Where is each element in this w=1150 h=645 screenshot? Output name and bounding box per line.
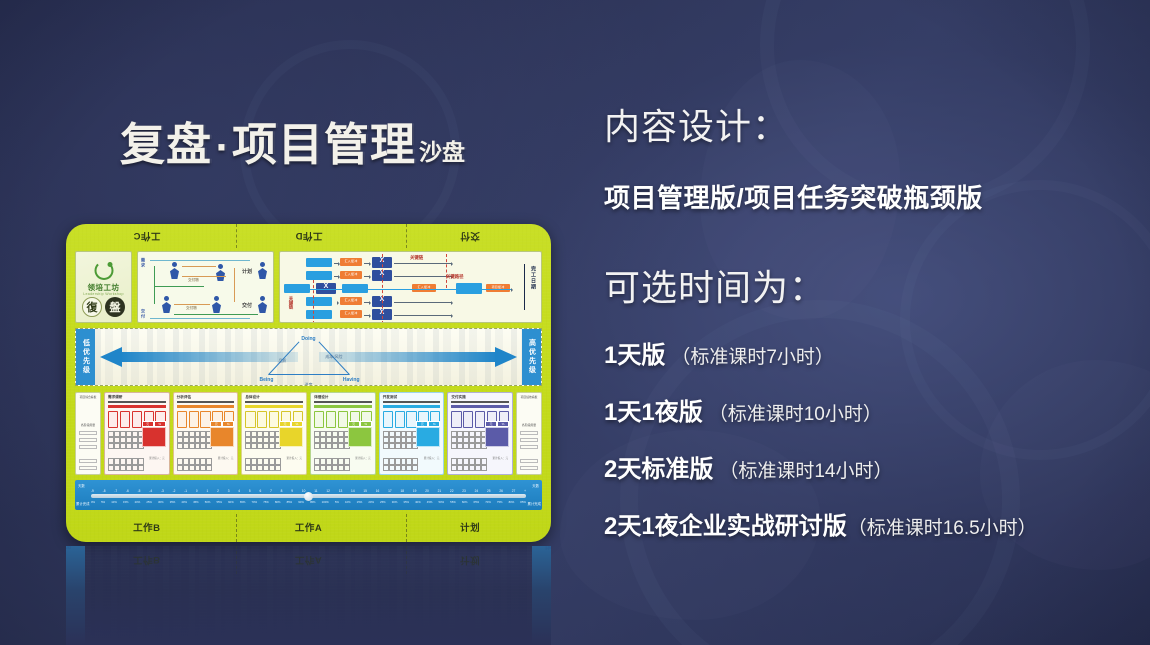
ruler-percent: 40%	[415, 500, 421, 507]
ruler-percent: 90%	[298, 500, 304, 507]
ruler-percent: 30%	[392, 500, 398, 507]
priority-high-tab: 高优先级	[532, 546, 551, 645]
ruler-percent: 65%	[240, 500, 246, 507]
board-top-label: 交付	[389, 226, 551, 248]
time-option-name: 2天1夜	[604, 513, 679, 540]
flow-line	[154, 286, 204, 287]
person-figure	[212, 296, 221, 313]
being-doing-having-triangle: Doing Being Having 品质 成本/风险 进度	[269, 336, 349, 381]
board-bottom-labels: 工作B 工作A 计划	[66, 516, 551, 538]
ruler-tick: -6	[126, 489, 129, 493]
triangle-node-having: Having	[343, 377, 360, 383]
ruler-tick: 26	[499, 489, 503, 493]
board-bottom-labels: 工作B 工作A 计划	[66, 550, 551, 572]
phase-card-title: 开发测试	[383, 395, 397, 400]
ruler-percent: 65%	[474, 500, 480, 507]
time-option-detail: （标准课时16.5小时）	[848, 518, 1037, 539]
ruler-tick: 7	[270, 489, 272, 493]
ruler-percent: 85%	[287, 500, 293, 507]
ruler-tick: 20	[425, 489, 429, 493]
network-arrow	[334, 276, 339, 277]
time-option-row: 1天版（标准课时7小时）	[604, 335, 1144, 370]
ruler-tick: -8	[103, 489, 106, 493]
title-part2: 项目管理	[232, 118, 416, 171]
ruler-percent-labels: 0%5%10%15%20%25%30%35%40%45%50%55%60%65%…	[91, 500, 526, 507]
feeding-buffer: 汇入缓冲	[340, 297, 362, 305]
ruler-percent: 0%	[91, 500, 95, 507]
buffer-label: 汇入缓冲	[340, 258, 362, 263]
ruler-tick: 1	[207, 489, 209, 493]
ruler-percent: 10%	[111, 500, 117, 507]
ruler-tick: 5	[249, 489, 251, 493]
time-options-heading: 可选时间为：	[604, 259, 1144, 311]
brand-seals: 復 盤	[76, 297, 131, 317]
triangle-edge-quality: 品质	[279, 358, 287, 364]
priority-low-tab: 低优先级	[76, 329, 95, 385]
ruler-percent: 20%	[368, 500, 374, 507]
ruler-left-top-label: 天数	[78, 483, 85, 488]
time-option-detail: （标准课时7小时）	[671, 347, 834, 368]
ruler-tick: 8	[281, 489, 283, 493]
page-title: 复盘·项目管理沙盘	[120, 108, 465, 173]
board-texture	[66, 546, 551, 645]
priority-high-tab: 高优先级	[522, 329, 541, 385]
ruler-percent: 60%	[462, 500, 468, 507]
board-divider	[406, 514, 407, 542]
ruler-tick: 15	[363, 489, 367, 493]
time-option-name: 2天标准版	[604, 456, 713, 483]
network-critical-path-arrow	[284, 289, 512, 290]
card-note: 累计投入：元	[286, 456, 302, 460]
triangle-edge-schedule: 进度	[305, 382, 313, 386]
flow-line	[174, 314, 258, 315]
role-label-deliver: 交付	[242, 302, 252, 309]
priority-band: 低优先级 高优先级 Doing Being Having	[75, 328, 542, 386]
ruler-tick: 17	[388, 489, 392, 493]
ruler-percent: 15%	[357, 500, 363, 507]
card-col-pct: %	[154, 421, 166, 427]
board-bottom-label: 工作A	[228, 516, 390, 538]
network-task-node	[306, 271, 332, 280]
flow-line	[154, 266, 155, 304]
title-part1: 复盘	[120, 118, 212, 171]
ruler-percent: 50%	[205, 500, 211, 507]
brand-name-en: Leadership Workshop	[76, 292, 131, 296]
person-figure-plan	[258, 262, 267, 279]
ruler-right-bottom-label: 累计完成	[527, 501, 541, 506]
triangle-edge-cost: 成本/风险	[325, 354, 342, 360]
network-task-node	[306, 258, 332, 267]
ruler-left-bottom-label: 累计完成	[76, 501, 90, 506]
board-bottom-label: 工作B	[66, 516, 228, 538]
brand-ring-icon	[94, 261, 113, 280]
triangle-node-having: Having	[545, 546, 551, 550]
title-suffix: 沙盘	[419, 140, 465, 166]
ruler-tick: 21	[438, 489, 442, 493]
ruler-tick: -4	[149, 489, 152, 493]
card-col-unit: 元	[348, 421, 360, 427]
phase-card-title: 交付实施	[451, 395, 465, 400]
ruler-percent: 5%	[101, 500, 105, 507]
time-option-name: 1天1夜版	[604, 399, 703, 426]
people-side-label: 需求	[140, 258, 146, 267]
ruler-percent: 45%	[193, 500, 199, 507]
ruler-tick: +	[524, 489, 526, 493]
person-figure	[216, 264, 225, 281]
ruler-percent: 10%	[345, 500, 351, 507]
network-arrow	[364, 263, 370, 264]
flow-line	[150, 260, 250, 261]
network-arrow	[364, 302, 370, 303]
ruler-percent: 100%	[322, 500, 329, 507]
finish-date-label: 完工日期	[530, 266, 537, 290]
card-col-unit: 元	[485, 421, 497, 427]
feeding-buffer: 汇入缓冲	[340, 258, 362, 266]
flow-line	[234, 268, 235, 302]
ruler-percent: 25%	[380, 500, 386, 507]
ruler-percent: 15%	[123, 500, 129, 507]
ruler-tick: 14	[351, 489, 355, 493]
board-divider	[236, 514, 237, 542]
ruler-tick: 13	[339, 489, 343, 493]
network-chain-marker	[313, 280, 314, 323]
critical-path-label: 关键路径	[446, 274, 464, 280]
network-chain-marker	[382, 254, 383, 323]
ruler-tick: 2	[217, 489, 219, 493]
card-col-unit: 元	[210, 421, 222, 427]
board-bottom-label: 计划	[389, 516, 551, 538]
critical-chain-label: 关键链	[410, 255, 423, 261]
phase-card-title: 详细设计	[314, 395, 328, 400]
ruler-percent: 30%	[158, 500, 164, 507]
network-arrow	[394, 263, 452, 264]
card-col-pct: %	[428, 421, 440, 427]
side-card-sub: 各阶段用量	[519, 423, 539, 427]
card-col-pct: %	[497, 421, 509, 427]
card-col-unit: 元	[279, 421, 291, 427]
triangle-node-doing: Doing	[301, 336, 315, 342]
side-card-left: 项目综合看板 各阶段用量	[75, 392, 101, 475]
card-col-pct: %	[222, 421, 234, 427]
progress-ruler[interactable]: 天数 天数 累计完成 累计完成 -9-8-7-6-5-4-3-2-1012345…	[75, 480, 542, 510]
board-divider	[236, 224, 237, 248]
ruler-tick: 0	[196, 489, 198, 493]
ruler-percent: 45%	[427, 500, 433, 507]
phase-cards-row: 项目综合看板 各阶段用量 需求调研	[75, 392, 542, 475]
slide-canvas: 复盘·项目管理沙盘 工作C 工作D 交付 领培工坊 Leadership Wor…	[0, 0, 1150, 645]
board-network-panel: 汇入缓冲 汇入缓冲 汇入缓冲 汇入缓冲 汇入缓冲 项目缓冲 X X X X X	[279, 251, 542, 323]
network-arrow	[394, 315, 452, 316]
triangle-node-being: Being	[66, 546, 71, 550]
ruler-percent: 35%	[403, 500, 409, 507]
card-col-pct: %	[360, 421, 372, 427]
network-arrow	[394, 276, 452, 277]
seal-pan: 盤	[105, 297, 125, 317]
ruler-percent: 70%	[252, 500, 258, 507]
phase-card-title: 总体设计	[245, 395, 259, 400]
ruler-tick: 11	[314, 489, 317, 493]
ruler-tick: 9	[291, 489, 293, 493]
ruler-percent: 75%	[263, 500, 269, 507]
content-design-heading: 内容设计：	[604, 98, 1144, 150]
board-top-labels: 工作C 工作D 交付	[66, 226, 551, 248]
people-side-label: 交付	[140, 309, 146, 318]
time-option-detail: （标准课时14小时）	[719, 461, 892, 482]
card-col-pct: %	[291, 421, 303, 427]
board-divider	[406, 224, 407, 248]
board-bottom-label: 计划	[389, 550, 551, 572]
ruler-tick: 23	[462, 489, 466, 493]
ruler-tick: 25	[487, 489, 491, 493]
time-option-row: 2天1夜企业实战研讨版（标准课时16.5小时）	[604, 506, 1144, 541]
phase-card[interactable]: 分析评估 元% 累计投入	[173, 392, 239, 475]
ruler-percent: 55%	[450, 500, 456, 507]
ruler-tick: 6	[259, 489, 261, 493]
ruler-percent: 85%	[520, 500, 526, 507]
phase-card[interactable]: 需求调研 元% 累计投入	[104, 392, 170, 475]
ruler-percent: 75%	[497, 500, 503, 507]
flow-note: 交付物	[188, 278, 199, 283]
ruler-tick: 22	[450, 489, 454, 493]
card-note: 累计投入：元	[218, 456, 234, 460]
card-col-unit: 元	[142, 421, 154, 427]
right-content-column: 内容设计： 项目管理版/项目任务突破瓶颈版 可选时间为： 1天版（标准课时7小时…	[604, 98, 1144, 541]
person-figure	[170, 262, 179, 279]
flow-note: 交付物	[186, 306, 197, 311]
side-card-title: 项目绩效看板	[519, 395, 539, 399]
network-task-node	[306, 310, 332, 319]
network-arrow	[364, 276, 370, 277]
network-task-node	[306, 297, 332, 306]
critical-chain-side-label: 关键链	[288, 296, 294, 309]
ruler-tick: 16	[376, 489, 380, 493]
board-people-panel: 需求 交付 计划 交付	[137, 251, 274, 323]
time-option-name: 1天版	[604, 342, 665, 369]
ruler-percent: 20%	[135, 500, 141, 507]
ruler-tick: 18	[400, 489, 404, 493]
project-buffer: 项目缓冲	[486, 284, 510, 292]
sandtable-board-wrapper: 工作C 工作D 交付 领培工坊 Leadership Workshop 復 盤 …	[66, 224, 551, 542]
sandtable-board: 工作C 工作D 交付 领培工坊 Leadership Workshop 復 盤 …	[66, 224, 551, 542]
flow-line	[182, 266, 216, 267]
network-chain-marker	[446, 254, 447, 288]
priority-low-tab: 低优先级	[66, 546, 85, 645]
time-option-detail: （标准课时10小时）	[709, 404, 882, 425]
ruler-percent: 70%	[485, 500, 491, 507]
ruler-tick: 24	[475, 489, 479, 493]
ruler-tick: -5	[138, 489, 141, 493]
ruler-percent: 80%	[509, 500, 515, 507]
ruler-tick: 4	[238, 489, 240, 493]
ruler-tick: -7	[114, 489, 117, 493]
phase-card[interactable]: 开发测试 元% 累计投入	[379, 392, 445, 475]
ruler-tick: -9	[91, 489, 94, 493]
network-arrow	[364, 315, 370, 316]
network-arrow	[334, 263, 339, 264]
seal-fu: 復	[82, 297, 102, 317]
ruler-tick: 19	[413, 489, 417, 493]
time-option-name-regular: 企业实战研讨版	[679, 513, 847, 540]
ruler-tick: -2	[173, 489, 176, 493]
person-figure	[162, 296, 171, 313]
flow-line	[174, 304, 210, 305]
role-label-plan: 计划	[242, 268, 252, 275]
card-note: 累计投入：元	[424, 456, 440, 460]
board-reflection: 工作C 工作D 交付 领培工坊 Leadership Workshop 復 盤 …	[66, 546, 551, 645]
buffer-label: 汇入缓冲	[340, 297, 362, 302]
ruler-right-top-label: 天数	[532, 483, 539, 488]
ruler-tick: 3	[228, 489, 230, 493]
title-block: 复盘·项目管理沙盘	[120, 108, 465, 173]
triangle-node-being: Being	[260, 377, 274, 383]
side-card-sub: 各阶段用量	[78, 423, 98, 427]
ruler-percent: 25%	[146, 500, 152, 507]
buffer-label: 汇入缓冲	[340, 271, 362, 276]
ruler-percent: 80%	[275, 500, 281, 507]
board-logo-panel: 领培工坊 Leadership Workshop 復 盤	[75, 251, 132, 323]
title-separator-dot: ·	[212, 128, 232, 168]
phase-card[interactable]: 总体设计 元% 累计投入	[241, 392, 307, 475]
ruler-percent: 5%	[335, 500, 339, 507]
finish-date-rule	[524, 264, 525, 310]
board-bottom-label: 工作A	[228, 550, 390, 572]
feeding-buffer: 汇入缓冲	[412, 284, 436, 292]
ruler-percent: 95%	[310, 500, 316, 507]
network-arrow	[394, 302, 452, 303]
ruler-percent: 50%	[438, 500, 444, 507]
feeding-buffer: 汇入缓冲	[340, 271, 362, 279]
ruler-percent: 35%	[170, 500, 176, 507]
ruler-tick: 12	[326, 489, 330, 493]
side-card-title: 项目综合看板	[78, 395, 98, 399]
time-option-row: 1天1夜版（标准课时10小时）	[604, 392, 1144, 427]
ruler-tick: 27	[512, 489, 516, 493]
side-card-right: 项目绩效看板 各阶段用量	[516, 392, 542, 475]
phase-card[interactable]: 详细设计 元% 累计投入	[310, 392, 376, 475]
card-note: 累计投入：元	[492, 456, 508, 460]
phase-card[interactable]: 交付实施 元% 累计投入	[447, 392, 513, 475]
phase-card-title: 需求调研	[108, 395, 122, 400]
ruler-percent: 60%	[228, 500, 234, 507]
phase-card-title: 分析评估	[177, 395, 191, 400]
card-note: 累计投入：元	[355, 456, 371, 460]
buffer-label: 汇入缓冲	[340, 310, 362, 315]
flow-line	[182, 276, 226, 277]
card-note: 累计投入：元	[149, 456, 165, 460]
card-col-unit: 元	[416, 421, 428, 427]
ruler-percent: 55%	[216, 500, 222, 507]
flow-line	[150, 318, 250, 319]
board-divider	[406, 546, 407, 574]
arrow-right	[319, 347, 517, 367]
reflection-fade	[66, 546, 551, 645]
ruler-tick: -1	[184, 489, 187, 493]
board-top-label: 工作C	[66, 226, 228, 248]
board-top-label: 工作D	[228, 226, 390, 248]
board-divider	[236, 546, 237, 574]
board-bottom-label: 工作B	[66, 550, 228, 572]
time-option-row: 2天标准版（标准课时14小时）	[604, 449, 1144, 484]
band-skyline-texture	[85, 546, 532, 645]
ruler-tick: -3	[161, 489, 164, 493]
content-design-value: 项目管理版/项目任务突破瓶颈版	[604, 178, 1144, 215]
feeding-buffer: 汇入缓冲	[340, 310, 362, 318]
ruler-percent: 40%	[181, 500, 187, 507]
person-figure-deliver	[258, 296, 267, 313]
